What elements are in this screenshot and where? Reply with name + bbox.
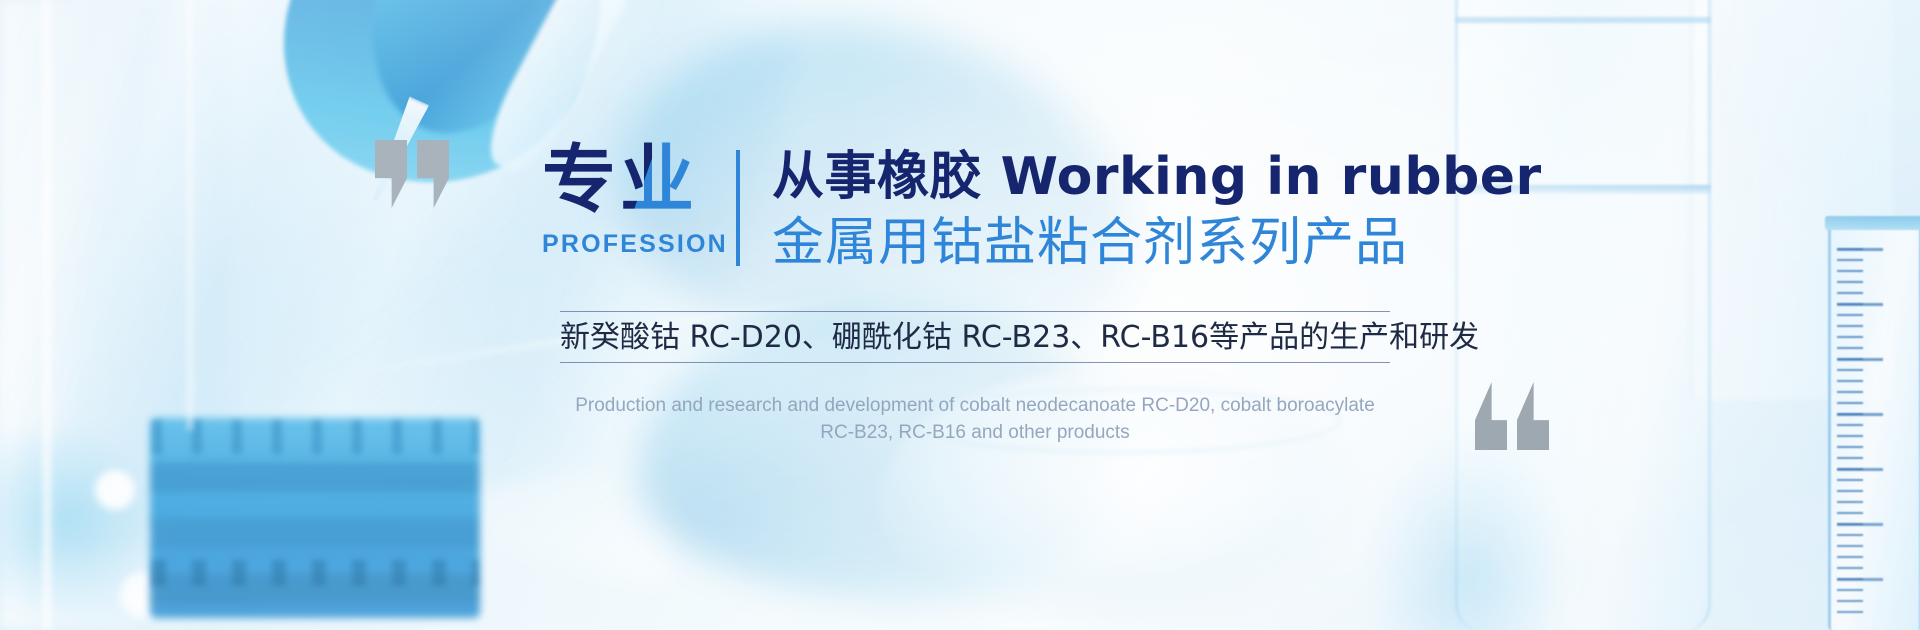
logo-char-zhuan: 专 [542,140,616,220]
quote-open-glyph-2 [417,140,449,208]
quote-close-glyph-1 [1475,382,1507,450]
subtitle-english: Production and research and development … [540,392,1410,446]
logo-chinese: 专 业 业 [542,140,702,224]
hero-banner: 专 业 业 PROFESSION 从事橡胶 Working in rubber … [0,0,1920,630]
quote-open-glyph-1 [375,140,407,208]
subtitle-english-line-1: Production and research and development … [540,392,1410,419]
divider-top [560,311,1390,312]
subtitle-english-line-2: RC-B23, RC-B16 and other products [540,419,1410,446]
headline-secondary: 金属用钴盐粘合剂系列产品 [772,212,1408,274]
divider-bottom [560,362,1390,363]
quote-open-icon [375,140,459,213]
banner-content: 专 业 业 PROFESSION 从事橡胶 Working in rubber … [0,0,1920,630]
quote-close-icon [1475,382,1559,455]
logo-english-label: PROFESSION [542,230,702,259]
profession-logo: 专 业 业 PROFESSION [542,140,702,259]
subtitle-chinese: 新癸酸钴 RC-D20、硼酰化钴 RC-B23、RC-B16等产品的生产和研发 [560,316,1390,360]
vertical-divider [736,150,740,266]
quote-close-glyph-2 [1517,382,1549,450]
headline-primary: 从事橡胶 Working in rubber [772,146,1542,208]
